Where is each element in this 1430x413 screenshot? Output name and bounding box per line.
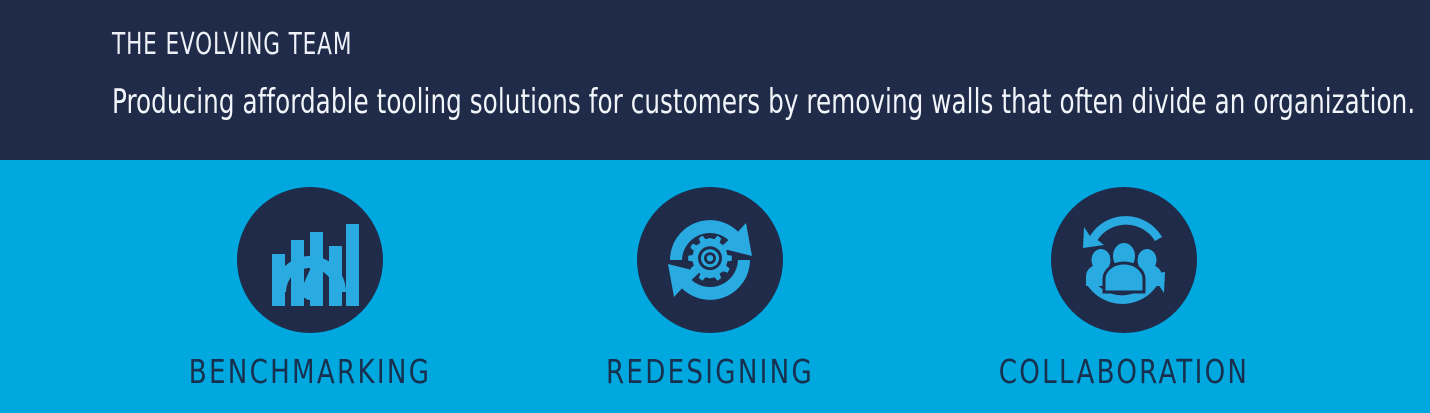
- icon-circle-redesigning: [637, 187, 783, 333]
- evolving-team-banner: THE EVOLVING TEAM Producing affordable t…: [0, 0, 1430, 413]
- pillar-label-collaboration: COLLABORATION: [992, 354, 1256, 390]
- icon-circle-collaboration: [1051, 187, 1197, 333]
- pillars-band: BENCHMARKING: [0, 160, 1430, 413]
- pillar-collaboration[interactable]: COLLABORATION: [974, 160, 1274, 390]
- page-subheadline: Producing affordable tooling solutions f…: [112, 82, 1415, 122]
- header-band: THE EVOLVING TEAM Producing affordable t…: [0, 0, 1430, 160]
- pillar-redesigning[interactable]: REDESIGNING: [560, 160, 860, 390]
- page-eyebrow: THE EVOLVING TEAM: [112, 28, 352, 62]
- pillar-label-benchmarking: BENCHMARKING: [178, 354, 442, 390]
- icon-circle-benchmarking: [237, 187, 383, 333]
- pillar-benchmarking[interactable]: BENCHMARKING: [160, 160, 460, 390]
- bar-chart-gauge-icon: [260, 210, 360, 310]
- pillar-label-redesigning: REDESIGNING: [578, 354, 842, 390]
- people-group-cycle-icon: [1074, 210, 1174, 310]
- gear-refresh-cycle-icon: [660, 210, 760, 310]
